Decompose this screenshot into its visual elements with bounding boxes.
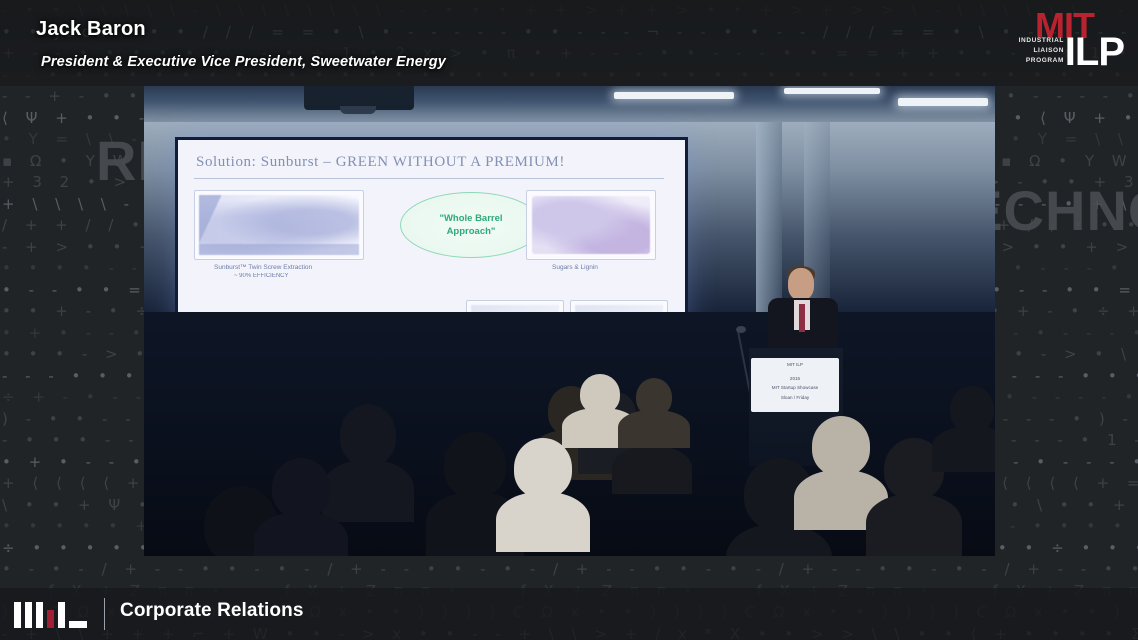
caption-machine: Sunburst™ Twin Screw Extraction <box>214 264 312 271</box>
slide-panel-sugars <box>526 190 656 260</box>
ilp-subtitle-line-3: PROGRAM <box>1026 57 1064 64</box>
speaker-head <box>788 268 814 300</box>
audience-shoulders <box>496 492 590 552</box>
audience-head <box>812 416 870 476</box>
footer-organization-label: Corporate Relations <box>120 600 304 622</box>
ceiling-light-icon <box>614 92 734 99</box>
footer-divider <box>104 598 105 630</box>
mit-logo-bar <box>47 610 54 628</box>
audience-shoulders <box>618 410 690 448</box>
podium-sign-line-4: Sloan / Friday <box>781 395 809 400</box>
caption-machine-efficiency: ~ 90% EFFICIENCY <box>234 273 289 279</box>
oval-line-1: "Whole Barrel <box>439 213 502 224</box>
mit-logo-bar <box>14 602 21 628</box>
mit-logo <box>14 600 96 628</box>
footer-bar: Corporate Relations <box>0 588 1138 640</box>
ceiling-light-icon <box>784 88 880 94</box>
ilp-logo-subtitle: INDUSTRIAL LIAISON PROGRAM <box>1006 36 1064 66</box>
extraction-machine-image <box>199 195 359 255</box>
speaker-title: President & Executive Vice President, Sw… <box>41 54 446 70</box>
audience-shoulders <box>612 446 692 494</box>
podium-sign-line-3: MIT Startup Showcase <box>772 385 818 390</box>
caption-sugars: Sugars & Lignin <box>552 264 598 271</box>
sugars-lignin-image <box>532 196 650 254</box>
oval-callout-text: "Whole Barrel Approach" <box>439 212 502 238</box>
audience-shoulders <box>866 494 962 556</box>
speaker-tie <box>799 304 805 332</box>
audience-shoulders <box>322 460 414 522</box>
audience-shoulders <box>932 426 995 472</box>
podium-sign-line-1: MIT ILP <box>787 362 803 367</box>
podium-sign: MIT ILP 2015 MIT Startup Showcase Sloan … <box>751 358 839 412</box>
speaker-name: Jack Baron <box>36 18 146 41</box>
audience-head <box>444 432 506 498</box>
slide-oval-callout: "Whole Barrel Approach" <box>400 192 542 258</box>
oval-line-2: Approach" <box>447 226 496 237</box>
video-player-stage: - • • \ \ \ \ \ - \ \ \ \ \ \ \ \ - - • … <box>0 0 1138 640</box>
podium-sign-line-2: 2015 <box>790 376 800 381</box>
projector-lens-icon <box>340 106 376 114</box>
symbol-row: • - • - / + - - • • - • - / + - - • • - … <box>0 559 1138 581</box>
audience-head <box>272 458 330 518</box>
speaker-header-overlay: Jack Baron President & Executive Vice Pr… <box>0 0 1138 86</box>
mit-logo-bar <box>58 602 65 628</box>
presentation-video-frame[interactable]: Solution: Sunburst – GREEN WITHOUT A PRE… <box>144 86 995 556</box>
mit-ilp-logo: MIT INDUSTRIAL LIAISON PROGRAM ILP <box>1000 6 1128 78</box>
ilp-subtitle-line-1: INDUSTRIAL <box>1019 37 1064 44</box>
slide-panel-machine <box>194 190 364 260</box>
ilp-logo-ilp-text: ILP <box>1065 32 1124 72</box>
slide-title-rule <box>194 178 664 179</box>
ilp-subtitle-line-2: LIAISON <box>1033 47 1064 54</box>
slide-title: Solution: Sunburst – GREEN WITHOUT A PRE… <box>196 154 565 171</box>
audience-head <box>514 438 572 498</box>
mit-logo-bar <box>25 602 32 628</box>
mit-logo-bar <box>69 621 87 628</box>
audience-shoulders <box>254 512 348 556</box>
ceiling-light-icon <box>898 98 988 106</box>
audience-head <box>340 404 396 466</box>
microphone-icon <box>736 326 746 333</box>
mit-logo-bar <box>36 602 43 628</box>
header-scrim <box>0 0 1138 86</box>
